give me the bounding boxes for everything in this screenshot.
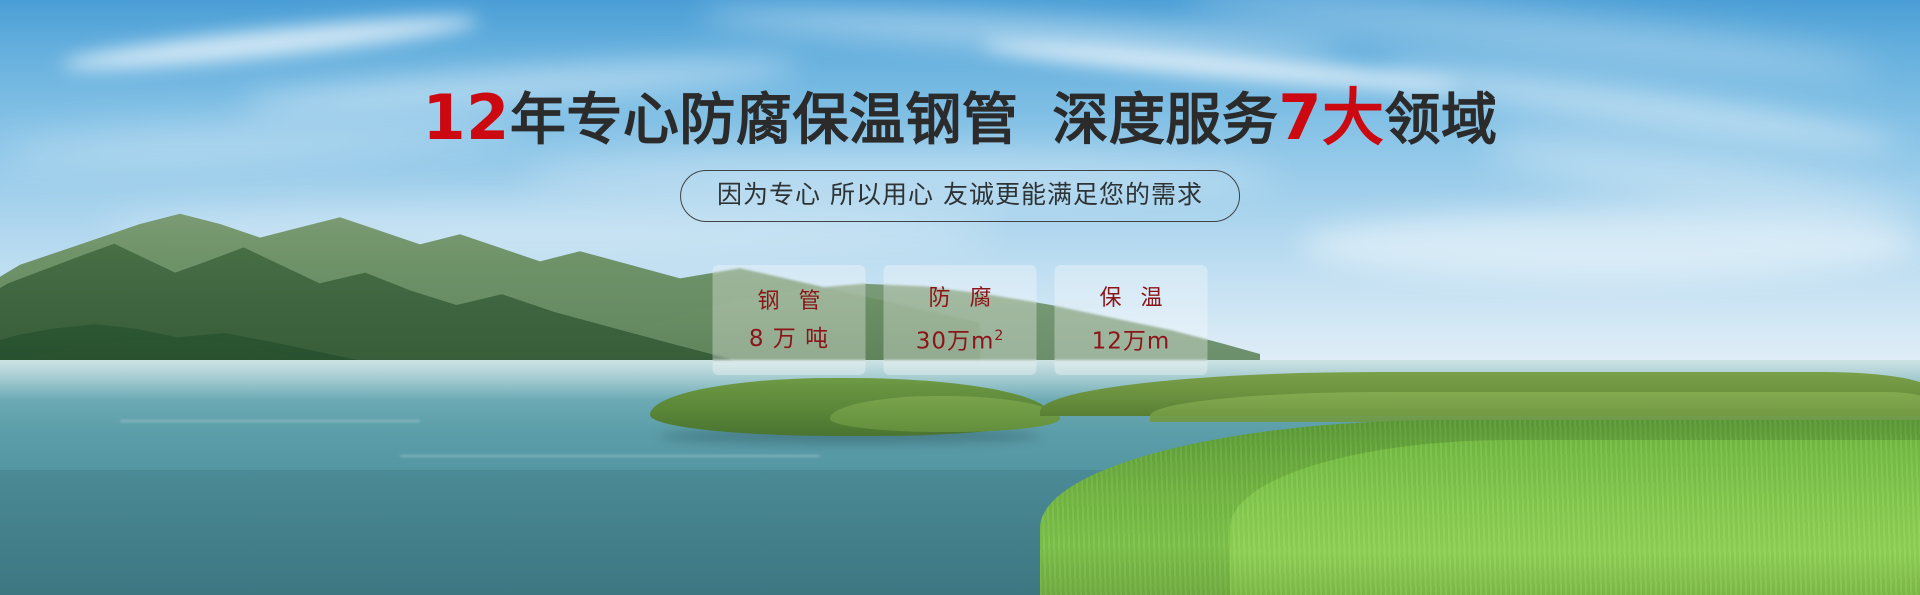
stat-card-value: 8 万 吨 (749, 325, 829, 353)
stat-card-insulation[interactable]: 保 温 12万m (1055, 265, 1208, 375)
foreground-water (0, 470, 1120, 595)
stat-value-superscript: 2 (994, 328, 1004, 344)
banner-headline: 12年专心防腐保温钢管深度服务7大领域 (0, 88, 1920, 151)
stat-card-group: 钢 管 8 万 吨 防 腐 30万m2 保 温 12万m (713, 265, 1208, 375)
water-ripple (120, 420, 420, 422)
banner-subtitle-pill: 因为专心 所以用心 友诚更能满足您的需求 (680, 170, 1240, 222)
cloud-streak (1300, 210, 1920, 280)
stat-card-label: 防 腐 (923, 284, 998, 314)
stat-card-value: 30万m2 (916, 322, 1005, 356)
headline-fields-count: 7大 (1278, 81, 1384, 154)
water-ripple (400, 455, 820, 457)
far-bank-strip (1150, 392, 1920, 422)
stat-card-label: 钢 管 (752, 287, 827, 317)
headline-years-number: 12 (423, 81, 510, 154)
stat-value-text: 8 万 吨 (749, 326, 829, 352)
stat-card-value: 12万m (1092, 322, 1171, 356)
stat-card-steel-pipe[interactable]: 钢 管 8 万 吨 (713, 265, 866, 375)
headline-fields-text: 领域 (1384, 88, 1497, 153)
stat-value-text: 30万m (916, 329, 995, 355)
stat-value-text: 12万m (1092, 329, 1171, 355)
headline-main-text: 年专心防腐保温钢管 (510, 88, 1019, 153)
headline-service-text: 深度服务 (1052, 88, 1278, 153)
stat-card-anticorrosion[interactable]: 防 腐 30万m2 (884, 265, 1037, 375)
hero-banner: 12年专心防腐保温钢管深度服务7大领域 因为专心 所以用心 友诚更能满足您的需求… (0, 0, 1920, 595)
stat-card-label: 保 温 (1094, 284, 1169, 314)
